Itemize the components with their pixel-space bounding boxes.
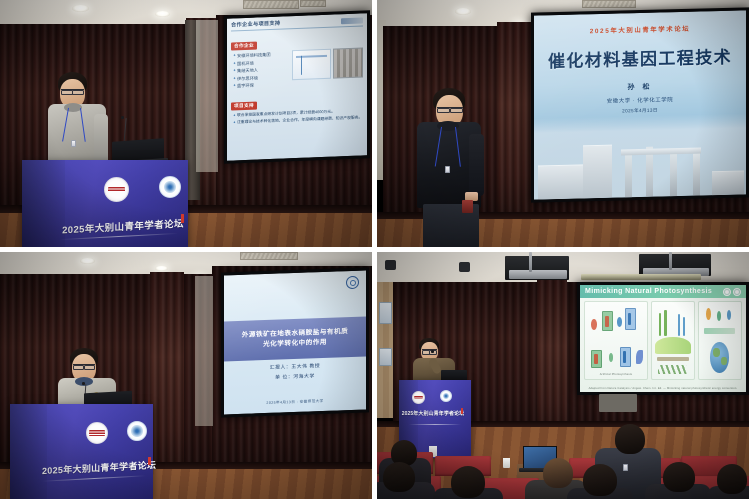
slide-title-catalysis: 2025年大别山青年学术论坛 催化材料基因工程技术 孙 松 安徽大学 · 化学化…: [534, 10, 746, 199]
glasses-icon: [437, 107, 463, 108]
screen-surface: 2025年大别山青年学术论坛 催化材料基因工程技术 孙 松 安徽大学 · 化学化…: [534, 10, 746, 199]
red-lanyard-card: [462, 200, 473, 213]
podium[interactable]: 2025年大别山青年学者论坛: [22, 160, 188, 247]
section-tag-support: 项目支持: [231, 102, 257, 111]
speaker-affiliation: 安徽大学 · 化学化工学院: [607, 95, 674, 105]
stage-light: [385, 260, 396, 270]
screen-surface: 合作企业与项目支持 合作企业 安徽环境科技集团 国机环境 集结天地人 伊尔思环境…: [227, 13, 367, 160]
stage-light-rig: [509, 270, 567, 279]
leaf-shape: [655, 337, 690, 354]
affiliation-label: 单 位：河海大学: [224, 371, 366, 383]
wall-poster: [379, 302, 392, 324]
node: [594, 354, 598, 365]
node: [628, 313, 632, 325]
glasses-icon: [422, 349, 437, 350]
screen-surface: 外源铁矿在地表水硝胺盐与有机质 光化学转化中的作用 汇报人：王大伟 教授 单 位…: [224, 271, 366, 415]
natural-photosynthesis-scheme: Artificial Photosynthesis: [584, 301, 648, 380]
figure-group: [292, 47, 363, 89]
university-seal-icon: [346, 276, 359, 289]
building-lintel: [621, 148, 702, 156]
photo-collage: 合作企业与项目支持 合作企业 安徽环境科技集团 国机环境 集结天地人 伊尔思环境…: [0, 0, 749, 500]
list-item: 蓝宇环保: [233, 82, 289, 90]
diagram-sublabel: Artificial Photosynthesis: [589, 373, 643, 376]
node: [713, 348, 720, 357]
screen-surface: Mimicking Natural Photosynthesis: [580, 285, 746, 392]
slide-header-bar: Mimicking Natural Photosynthesis: [580, 285, 746, 298]
ceiling-vent: [300, 0, 326, 7]
slide-title: Mimicking Natural Photosynthesis: [585, 288, 712, 295]
audience-head: [615, 424, 645, 454]
screen-support-box: [599, 394, 637, 412]
panel-bottom-right[interactable]: Mimicking Natural Photosynthesis: [377, 252, 749, 499]
node: [721, 357, 727, 365]
leaf-structure-diagram: [651, 301, 695, 380]
projection-screen[interactable]: Mimicking Natural Photosynthesis: [577, 282, 749, 395]
bar-chart-figure: [292, 48, 331, 80]
side-wall: [196, 20, 218, 172]
title-band: 外源铁矿在地表水硝胺盐与有机质 光化学转化中的作用: [224, 316, 366, 361]
node: [704, 328, 735, 334]
ceiling-vent: [243, 0, 299, 9]
audience-head: [451, 466, 485, 498]
university-seal-blue-logo: [127, 421, 147, 441]
node: [617, 317, 622, 326]
laptop-lid: [441, 370, 467, 380]
podium-divider: [409, 424, 461, 425]
university-seal-red-logo: [104, 177, 129, 202]
stage-light: [459, 262, 470, 272]
building-pillar: [693, 153, 700, 195]
ceiling-light: [155, 266, 168, 271]
node: [609, 353, 614, 362]
university-seal-red-logo: [412, 391, 425, 404]
glasses-icon: [73, 364, 95, 365]
podium-accent-bar: [461, 408, 463, 414]
node: [659, 313, 661, 336]
cooperation-body: 安徽环境科技集团 国机环境 集结天地人 伊尔思环境 蓝宇环保: [231, 47, 363, 92]
track-rail: [581, 274, 701, 280]
node: [678, 314, 680, 336]
node: [664, 310, 666, 336]
ceiling-light: [455, 8, 471, 15]
journal-badge-icon: [723, 288, 731, 296]
support-section: 项目支持 联合承担国家重点研发计划项目2项，累计经费4000万元。 注重理论与技…: [231, 90, 363, 126]
node: [623, 351, 627, 363]
slide-date: 2025年4月13日: [622, 108, 658, 115]
microphone-head-icon: [121, 116, 124, 119]
speaker-name: 孙 松: [628, 82, 653, 93]
stage-curtain: [497, 22, 533, 227]
node: [636, 350, 643, 364]
podium-face: [10, 404, 153, 499]
rig-pole: [669, 252, 672, 270]
slide-cooperation: 合作企业与项目支持 合作企业 安徽环境科技集团 国机环境 集结天地人 伊尔思环境…: [227, 13, 367, 160]
slide-title: 合作企业与项目支持: [231, 20, 280, 29]
university-seal-red-logo: [86, 422, 108, 444]
building-block: [583, 144, 613, 198]
slide-meta: 汇报人：王大伟 教授 单 位：河海大学: [224, 361, 366, 383]
university-seal-blue-logo: [159, 176, 181, 198]
audience-head: [383, 462, 415, 492]
arm: [94, 114, 108, 166]
podium[interactable]: 2025年大别山青年学者论坛: [10, 404, 153, 499]
ceiling-vent: [582, 0, 636, 8]
glasses-icon: [61, 89, 84, 90]
slide-caption: Adapted from Nature Catalysis / Angew. C…: [584, 387, 742, 390]
slide-photosynthesis: Mimicking Natural Photosynthesis: [580, 285, 746, 392]
ceiling-light: [80, 258, 95, 264]
name-badge: [445, 166, 450, 173]
audience-head: [543, 458, 573, 488]
handheld-microphone-icon: [431, 350, 434, 353]
section-tag-partners: 合作企业: [231, 41, 257, 50]
water-cup: [503, 458, 510, 468]
catalyst-cycle-diagram: [698, 301, 742, 380]
node: [683, 317, 685, 335]
panel-top-right[interactable]: 2025年大别山青年学术论坛 催化材料基因工程技术 孙 松 安徽大学 · 化学化…: [377, 0, 749, 247]
name-badge: [623, 464, 628, 471]
slide-title-row: 合作企业与项目支持: [231, 16, 363, 31]
sun-icon: [706, 308, 711, 320]
ceiling-vent: [240, 252, 298, 260]
ceiling-light: [155, 11, 170, 17]
audience-head: [583, 464, 617, 496]
podium-accent-bar: [148, 457, 151, 465]
ceiling-light: [72, 5, 89, 12]
name-badge: [71, 140, 76, 147]
projection-screen[interactable]: 合作企业与项目支持 合作企业 安徽环境科技集团 国机环境 集结天地人 伊尔思环境…: [224, 10, 370, 164]
stage-curtain: [150, 272, 184, 484]
building-block: [538, 164, 585, 199]
podium-accent-bar: [181, 214, 184, 223]
panel-bottom-left[interactable]: 外源铁矿在地表水硝胺盐与有机质 光化学转化中的作用 汇报人：王大伟 教授 单 位…: [0, 252, 372, 499]
molecular-structure-diagram: [658, 365, 687, 374]
panel-top-left[interactable]: 合作企业与项目支持 合作企业 安徽环境科技集团 国机环境 集结天地人 伊尔思环境…: [0, 0, 372, 247]
building-pillar: [625, 152, 632, 197]
slide-main-title: 催化材料基因工程技术: [548, 43, 732, 72]
diagram-grid: Artificial Photosynthesis: [584, 301, 742, 380]
laboratory-photo-figure: [333, 47, 363, 78]
side-wall: [195, 276, 213, 426]
speaker-figure: [415, 88, 501, 247]
node: [727, 310, 731, 320]
projection-screen[interactable]: 2025年大别山青年学术论坛 催化材料基因工程技术 孙 松 安徽大学 · 化学化…: [531, 7, 749, 202]
building-block: [712, 170, 744, 195]
audience-head: [663, 462, 695, 492]
slide-iron-mineral: 外源铁矿在地表水硝胺盐与有机质 光化学转化中的作用 汇报人：王大伟 教授 单 位…: [224, 271, 366, 415]
microphone-head-icon: [82, 382, 85, 385]
forum-label: 2025年大别山青年学术论坛: [590, 24, 691, 35]
audience-head: [717, 464, 747, 494]
slide-footer: 2025年4月13日 · 安徽师范大学: [224, 398, 366, 408]
journal-badges: [723, 288, 741, 296]
wall-poster: [379, 348, 392, 366]
building-pillar: [670, 149, 677, 196]
node: [717, 311, 721, 321]
campus-building-illustration: [534, 113, 746, 199]
partner-list: 安徽环境科技集团 国机环境 集结天地人 伊尔思环境 蓝宇环保: [231, 50, 289, 92]
rig-pole: [529, 252, 532, 272]
projection-screen[interactable]: 外源铁矿在地表水硝胺盐与有机质 光化学转化中的作用 汇报人：王大伟 教授 单 位…: [221, 267, 369, 417]
journal-badge-icon: [733, 288, 741, 296]
university-logo-icon: [341, 17, 363, 24]
node: [605, 316, 609, 328]
university-seal-blue-logo: [440, 390, 452, 402]
slide-title-line-2: 光化学转化中的作用: [263, 338, 327, 350]
node: [591, 319, 597, 330]
node: [657, 357, 689, 361]
arm: [469, 134, 484, 196]
